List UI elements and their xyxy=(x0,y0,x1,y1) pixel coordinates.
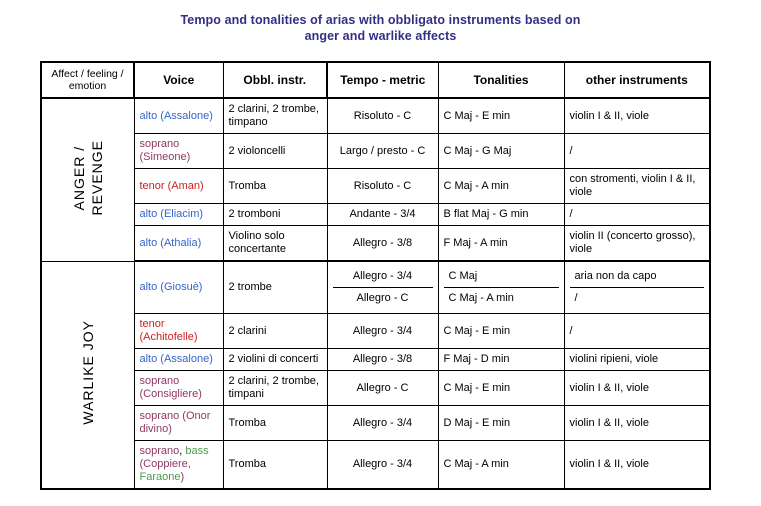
cell-tempo-metric: Allegro - 3/4 xyxy=(327,314,438,349)
cell-tonalities: B flat Maj - G min xyxy=(438,204,564,226)
cell-obbl-instr: 2 violoncelli xyxy=(223,134,327,169)
voice-part-soprano: soprano (Consigliere) xyxy=(140,375,202,400)
cell-obbl-instr: Tromba xyxy=(223,441,327,490)
cell-tonalities-sub: C Maj - A min xyxy=(444,288,559,309)
cell-other-instruments: / xyxy=(564,204,710,226)
table-row: ANGER / REVENGEalto (Assalone)2 clarini,… xyxy=(41,98,710,134)
affect-group-label: WARLIKE JOY xyxy=(41,261,134,489)
cell-other-instruments: aria non da capo/ xyxy=(564,261,710,314)
table-header-row: Affect / feeling / emotionVoiceObbl. ins… xyxy=(41,62,710,98)
voice-part-alto: alto (Giosuè) xyxy=(140,281,203,293)
affect-group-label-text: WARLIKE JOY xyxy=(79,320,97,425)
cell-tempo-metric: Allegro - 3/8 xyxy=(327,349,438,371)
table-row: tenor (Achitofelle)2 clariniAllegro - 3/… xyxy=(41,314,710,349)
cell-voice: tenor (Achitofelle) xyxy=(134,314,223,349)
voice-part-soprano: soprano xyxy=(140,445,180,457)
affect-group-label: ANGER / REVENGE xyxy=(41,98,134,261)
table-row: tenor (Aman)TrombaRisoluto - CC Maj - A … xyxy=(41,169,710,204)
voice-part-soprano: soprano (Simeone) xyxy=(140,138,191,163)
page-title-line1: Tempo and tonalities of arias with obbli… xyxy=(180,13,580,27)
column-header-tonalities: Tonalities xyxy=(438,62,564,98)
table-row: soprano, bass (Coppiere, Faraone)TrombaA… xyxy=(41,441,710,490)
voice-part-soprano: soprano (Onor divino) xyxy=(140,410,211,435)
cell-voice: alto (Eliacim) xyxy=(134,204,223,226)
cell-tonalities: C Maj - A min xyxy=(438,169,564,204)
cell-tonalities: C Maj - E min xyxy=(438,98,564,134)
cell-voice: tenor (Aman) xyxy=(134,169,223,204)
voice-part-alto: alto (Assalone) xyxy=(140,353,213,365)
cell-tonalities: F Maj - D min xyxy=(438,349,564,371)
page-title-line2: anger and warlike affects xyxy=(0,28,761,44)
cell-obbl-instr: Tromba xyxy=(223,169,327,204)
table-row: soprano (Onor divino)TrombaAllegro - 3/4… xyxy=(41,406,710,441)
column-header-tempo-metric: Tempo - metric xyxy=(327,62,438,98)
cell-voice: soprano, bass (Coppiere, Faraone) xyxy=(134,441,223,490)
cell-voice: soprano (Consigliere) xyxy=(134,371,223,406)
voice-part-alto: alto (Assalone) xyxy=(140,110,213,122)
cell-tempo-metric: Allegro - 3/8 xyxy=(327,226,438,262)
cell-tonalities: C Maj - G Maj xyxy=(438,134,564,169)
column-header-other-instruments: other instruments xyxy=(564,62,710,98)
cell-tonalities: C Maj - E min xyxy=(438,371,564,406)
cell-obbl-instr: Tromba xyxy=(223,406,327,441)
cell-tonalities: F Maj - A min xyxy=(438,226,564,262)
cell-other-instruments: violin I & II, viole xyxy=(564,406,710,441)
cell-obbl-instr: 2 trombe xyxy=(223,261,327,314)
table-row: alto (Assalone)2 violini di concertiAlle… xyxy=(41,349,710,371)
arias-table: Affect / feeling / emotionVoiceObbl. ins… xyxy=(40,61,711,490)
cell-obbl-instr: 2 violini di concerti xyxy=(223,349,327,371)
cell-tempo-metric: Largo / presto - C xyxy=(327,134,438,169)
cell-other-instruments-sub: aria non da capo xyxy=(570,266,705,288)
page-title: Tempo and tonalities of arias with obbli… xyxy=(0,0,761,44)
table-row: alto (Eliacim)2 tromboniAndante - 3/4B f… xyxy=(41,204,710,226)
table-row: alto (Athalia)Violino solo concertanteAl… xyxy=(41,226,710,262)
table-row: WARLIKE JOYalto (Giosuè)2 trombeAllegro … xyxy=(41,261,710,314)
cell-other-instruments: con stromenti, violin I & II, viole xyxy=(564,169,710,204)
cell-tempo-metric-sub: Allegro - C xyxy=(333,288,433,309)
cell-other-instruments: / xyxy=(564,134,710,169)
cell-tonalities: C Maj - A min xyxy=(438,441,564,490)
cell-voice: alto (Assalone) xyxy=(134,98,223,134)
cell-obbl-instr: 2 clarini, 2 trombe, timpani xyxy=(223,371,327,406)
affect-group-label-text: ANGER / REVENGE xyxy=(70,140,106,215)
cell-obbl-instr: 2 tromboni xyxy=(223,204,327,226)
cell-tempo-metric: Allegro - C xyxy=(327,371,438,406)
column-header-obbl-instr: Obbl. instr. xyxy=(223,62,327,98)
cell-obbl-instr: 2 clarini, 2 trombe, timpano xyxy=(223,98,327,134)
column-header-voice: Voice xyxy=(134,62,223,98)
voice-part-tenor: tenor (Achitofelle) xyxy=(140,318,198,343)
column-header-affect: Affect / feeling / emotion xyxy=(41,62,134,98)
voice-part-alto: alto (Athalia) xyxy=(140,237,202,249)
voice-part-alto: alto (Eliacim) xyxy=(140,208,204,220)
cell-tempo-metric-sub: Allegro - 3/4 xyxy=(333,266,433,288)
cell-other-instruments: violin II (concerto grosso), viole xyxy=(564,226,710,262)
cell-tempo-metric: Allegro - 3/4Allegro - C xyxy=(327,261,438,314)
table-row: soprano (Consigliere)2 clarini, 2 trombe… xyxy=(41,371,710,406)
table-container: Affect / feeling / emotionVoiceObbl. ins… xyxy=(40,61,709,490)
cell-obbl-instr: 2 clarini xyxy=(223,314,327,349)
cell-tonalities: C Maj - E min xyxy=(438,314,564,349)
voice-part-soprano: (Coppiere, xyxy=(140,458,191,470)
cell-other-instruments-sub: / xyxy=(570,288,705,309)
voice-part-bass: bass xyxy=(185,445,208,457)
voice-part-bass: Faraone xyxy=(140,471,181,483)
cell-voice: soprano (Onor divino) xyxy=(134,406,223,441)
voice-part-tenor: tenor (Aman) xyxy=(140,180,204,192)
cell-other-instruments: violin I & II, viole xyxy=(564,441,710,490)
voice-part-soprano: ) xyxy=(180,471,184,483)
cell-voice: alto (Assalone) xyxy=(134,349,223,371)
cell-tempo-metric: Allegro - 3/4 xyxy=(327,406,438,441)
cell-tonalities-sub: C Maj xyxy=(444,266,559,288)
cell-tempo-metric: Andante - 3/4 xyxy=(327,204,438,226)
cell-tempo-metric: Risoluto - C xyxy=(327,169,438,204)
cell-other-instruments: violini ripieni, viole xyxy=(564,349,710,371)
cell-voice: alto (Giosuè) xyxy=(134,261,223,314)
cell-voice: soprano (Simeone) xyxy=(134,134,223,169)
cell-tempo-metric: Allegro - 3/4 xyxy=(327,441,438,490)
cell-tempo-metric: Risoluto - C xyxy=(327,98,438,134)
table-row: soprano (Simeone)2 violoncelliLargo / pr… xyxy=(41,134,710,169)
cell-other-instruments: violin I & II, viole xyxy=(564,98,710,134)
cell-voice: alto (Athalia) xyxy=(134,226,223,262)
cell-other-instruments: / xyxy=(564,314,710,349)
cell-other-instruments: violin I & II, viole xyxy=(564,371,710,406)
cell-obbl-instr: Violino solo concertante xyxy=(223,226,327,262)
cell-tonalities: C MajC Maj - A min xyxy=(438,261,564,314)
cell-tonalities: D Maj - E min xyxy=(438,406,564,441)
